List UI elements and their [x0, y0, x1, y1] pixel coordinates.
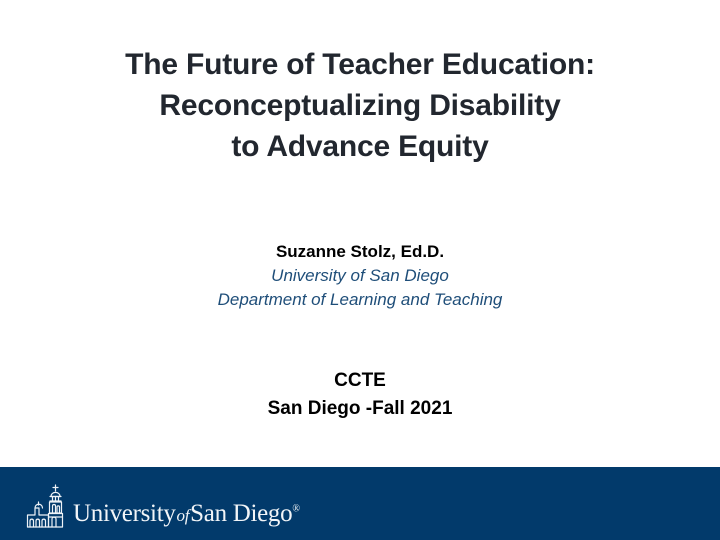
- title-line-1: The Future of Teacher Education:: [0, 44, 720, 85]
- page-title: The Future of Teacher Education: Reconce…: [0, 44, 720, 167]
- event-organization: CCTE: [0, 367, 720, 395]
- footer-bar: UniversityofSan Diego®: [0, 467, 720, 540]
- usd-wordmark: UniversityofSan Diego®: [73, 501, 300, 526]
- author-department: Department of Learning and Teaching: [0, 288, 720, 312]
- title-slide: The Future of Teacher Education: Reconce…: [0, 0, 720, 540]
- registered-trademark-symbol: ®: [292, 503, 300, 514]
- author-block: Suzanne Stolz, Ed.D. University of San D…: [0, 240, 720, 312]
- wordmark-san-diego: San Diego: [190, 500, 292, 527]
- event-block: CCTE San Diego -Fall 2021: [0, 367, 720, 423]
- usd-logo: UniversityofSan Diego®: [26, 484, 300, 528]
- usd-mission-church-icon: [26, 484, 68, 528]
- author-name: Suzanne Stolz, Ed.D.: [0, 240, 720, 264]
- title-line-3: to Advance Equity: [0, 126, 720, 167]
- wordmark-university: University: [73, 500, 176, 527]
- event-location-date: San Diego -Fall 2021: [0, 395, 720, 423]
- title-line-2: Reconceptualizing Disability: [0, 85, 720, 126]
- author-institution: University of San Diego: [0, 264, 720, 288]
- wordmark-of: of: [176, 506, 191, 525]
